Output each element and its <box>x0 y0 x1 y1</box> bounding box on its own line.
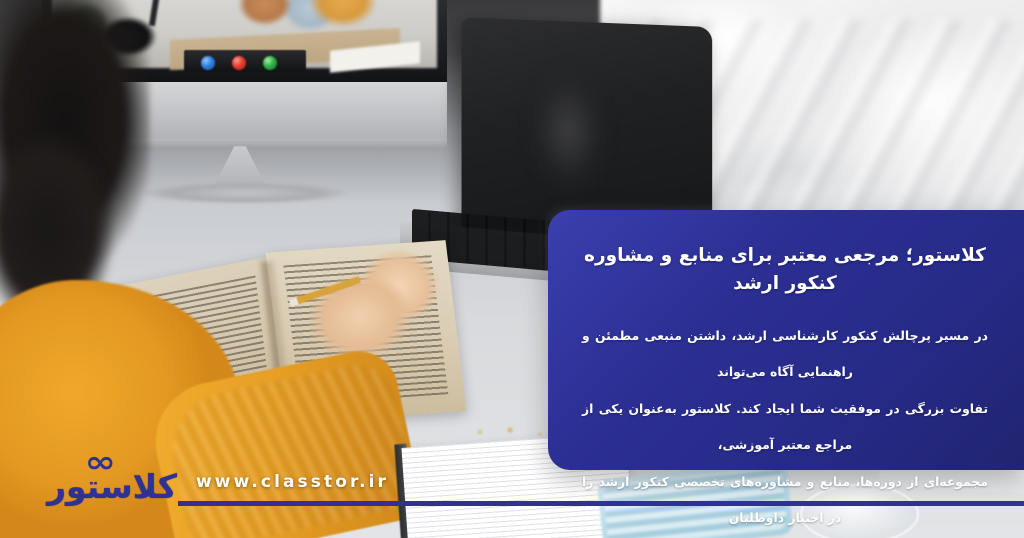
website-url[interactable]: www.classtor.ir <box>196 472 389 492</box>
call-dot-red-icon <box>232 56 246 70</box>
panel-body-line: در مسیر پرچالش کنکور کارشناسی ارشد، داشت… <box>582 318 988 391</box>
monitor-foot <box>140 182 350 204</box>
promo-banner: کلاستور؛ مرجعی معتبر برای منابع و مشاوره… <box>0 0 1024 538</box>
call-dot-green-icon <box>263 56 277 70</box>
divider-rule <box>178 501 1024 506</box>
panel-body-line: تفاوت بزرگی در موفقیت شما ایجاد کند. کلا… <box>582 391 988 464</box>
text-panel: کلاستور؛ مرجعی معتبر برای منابع و مشاوره… <box>548 210 1024 470</box>
infinity-icon: ∞ <box>20 448 178 478</box>
classtor-logo[interactable]: ∞ کلاستور <box>36 448 188 510</box>
call-dot-blue-icon <box>201 56 215 70</box>
laptop-screen-reflection <box>520 51 640 229</box>
panel-title: کلاستور؛ مرجعی معتبر برای منابع و مشاوره… <box>582 242 988 298</box>
